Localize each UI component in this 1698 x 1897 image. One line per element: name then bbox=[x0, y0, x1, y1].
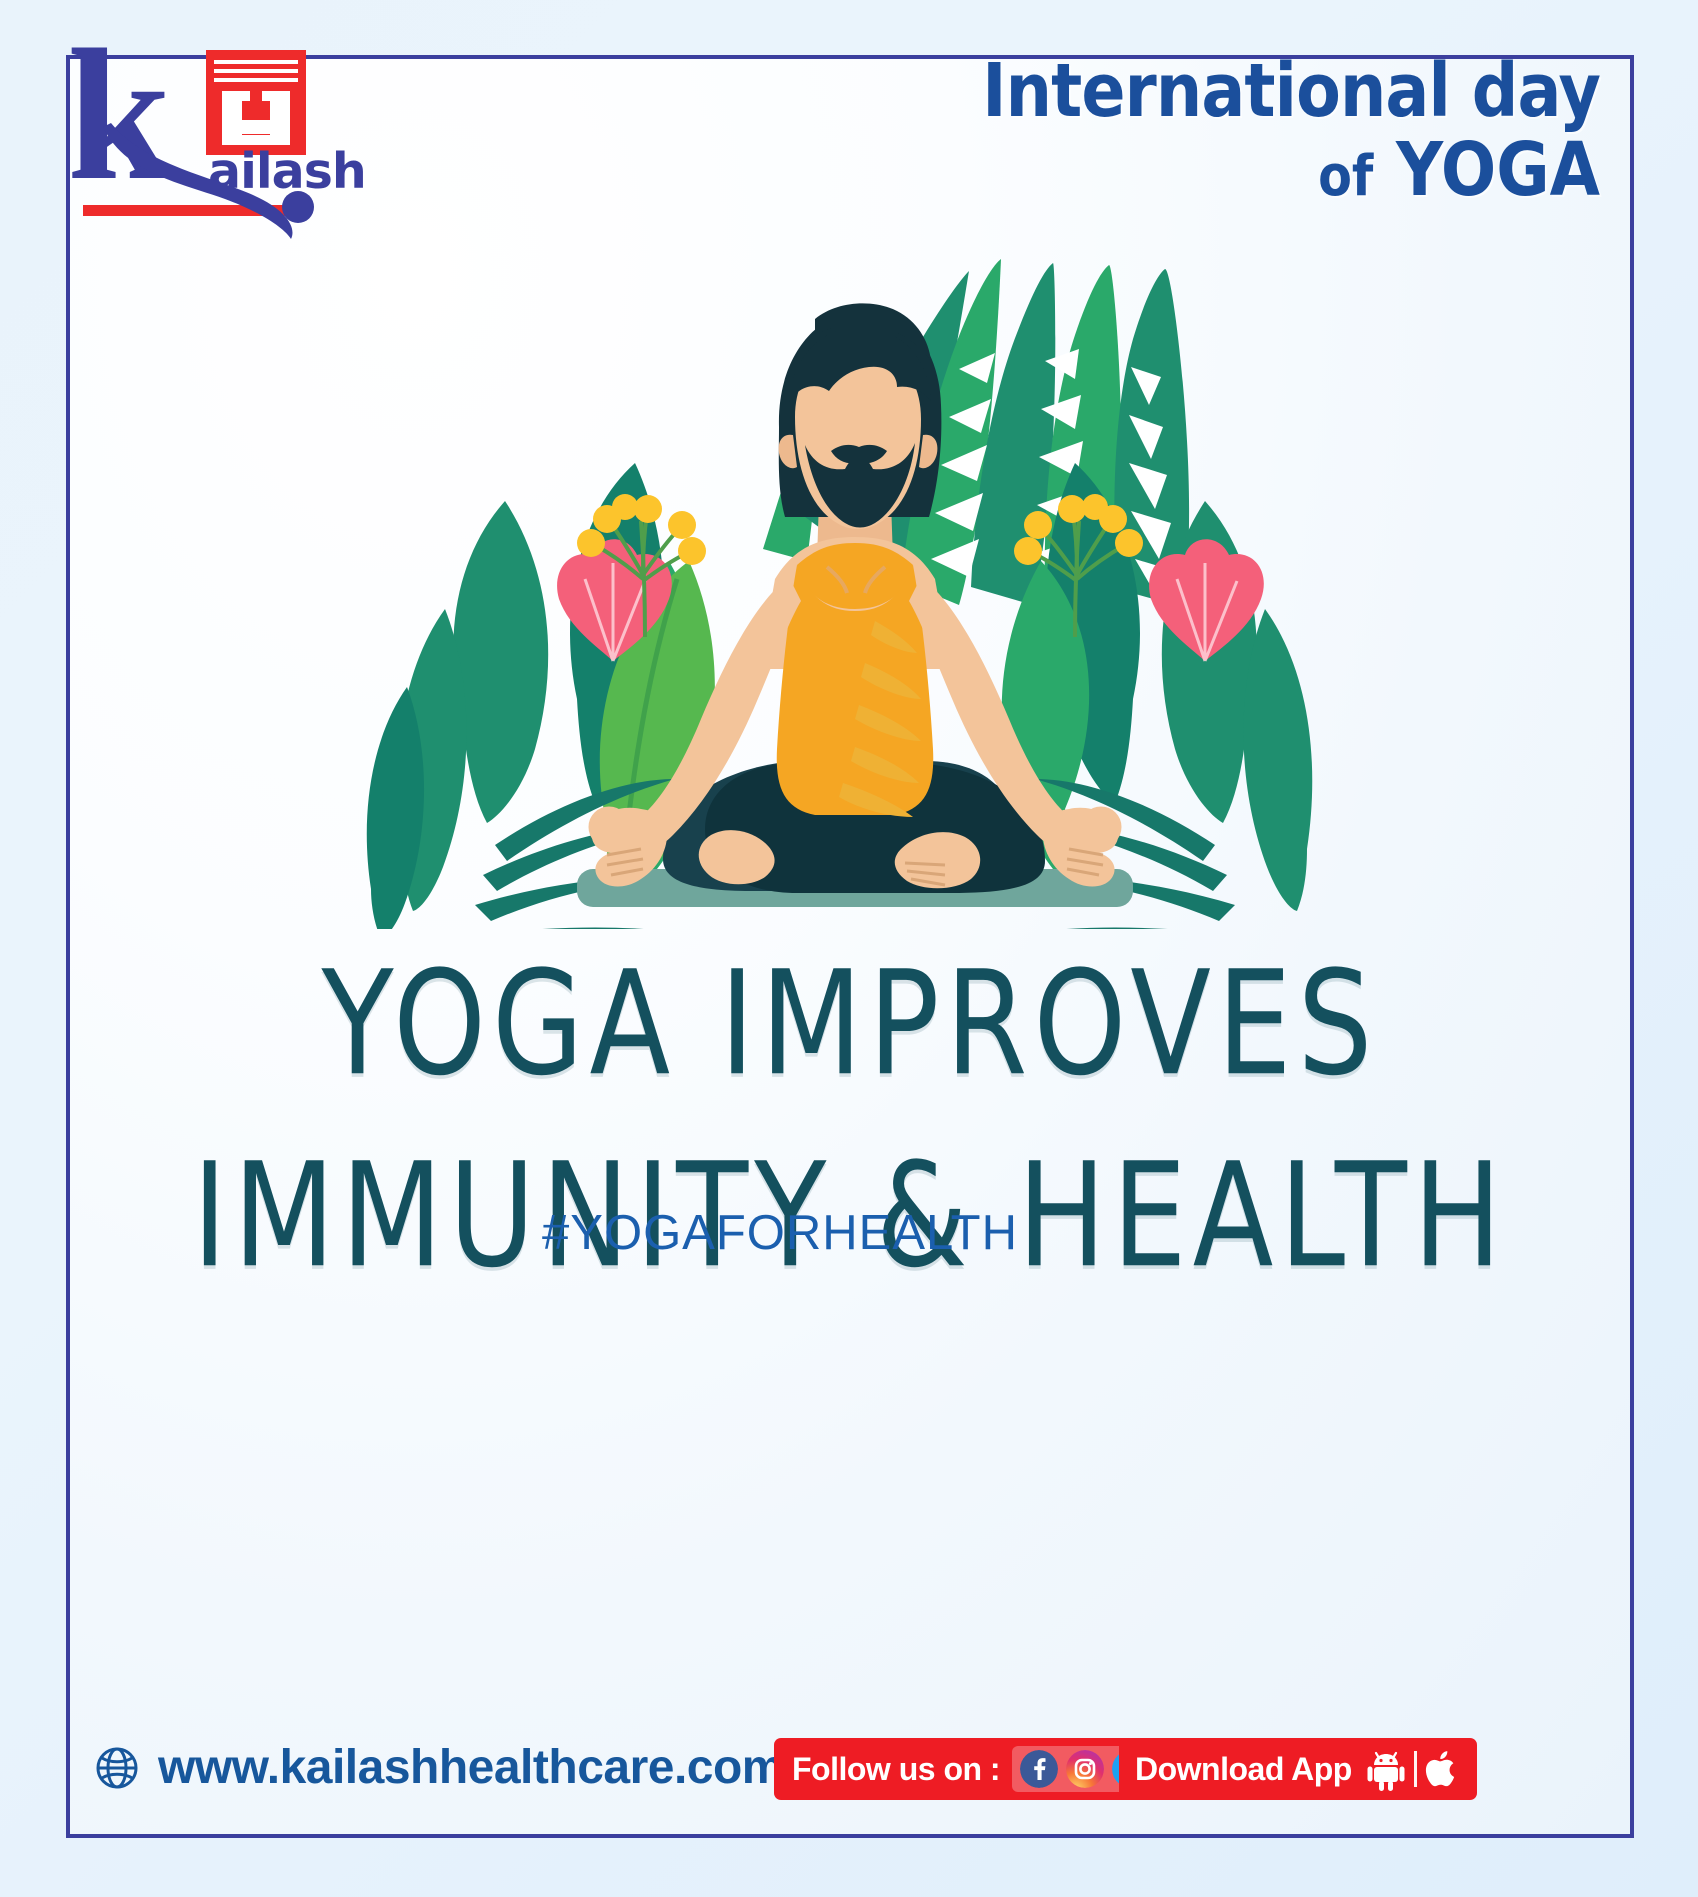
kailash-logo: k ailash bbox=[67, 21, 397, 251]
download-app-label: Download App bbox=[1135, 1751, 1352, 1788]
title-yoga: YOGA bbox=[1396, 127, 1600, 213]
hashtag: #YOGAFORHEALTH bbox=[70, 1205, 1630, 1261]
title-line-1: International day bbox=[982, 56, 1600, 127]
website-url: www.kailashhealthcare.com bbox=[158, 1740, 784, 1795]
title-line-2: of YOGA bbox=[982, 135, 1600, 206]
headline-line-1: YOGA IMPROVES bbox=[70, 939, 1630, 1107]
app-store-icon-group bbox=[1366, 1747, 1461, 1791]
title-of: of bbox=[1318, 144, 1373, 209]
logo-wordmark: ailash bbox=[208, 143, 366, 200]
yoga-illustration bbox=[345, 249, 1365, 929]
logo-letter-k: k bbox=[67, 21, 168, 209]
yoga-illustration-svg bbox=[345, 249, 1365, 929]
logo-red-underline bbox=[83, 205, 311, 216]
badge-divider bbox=[1414, 1751, 1417, 1787]
logo-letter-h-badge bbox=[206, 50, 306, 155]
poster-frame: k ailash International day of YOGA bbox=[66, 55, 1634, 1838]
apple-icon[interactable] bbox=[1425, 1747, 1461, 1791]
download-app-badge: Download App bbox=[1119, 1738, 1477, 1800]
android-icon[interactable] bbox=[1366, 1747, 1406, 1791]
facebook-icon[interactable] bbox=[1020, 1750, 1058, 1788]
globe-icon bbox=[94, 1745, 140, 1791]
footer: www.kailashhealthcare.com Follow us on : bbox=[70, 1722, 1630, 1834]
page-title: International day of YOGA bbox=[898, 56, 1600, 206]
follow-us-label: Follow us on : bbox=[792, 1751, 1000, 1788]
website-link[interactable]: www.kailashhealthcare.com bbox=[94, 1740, 784, 1795]
instagram-icon[interactable] bbox=[1066, 1750, 1104, 1788]
